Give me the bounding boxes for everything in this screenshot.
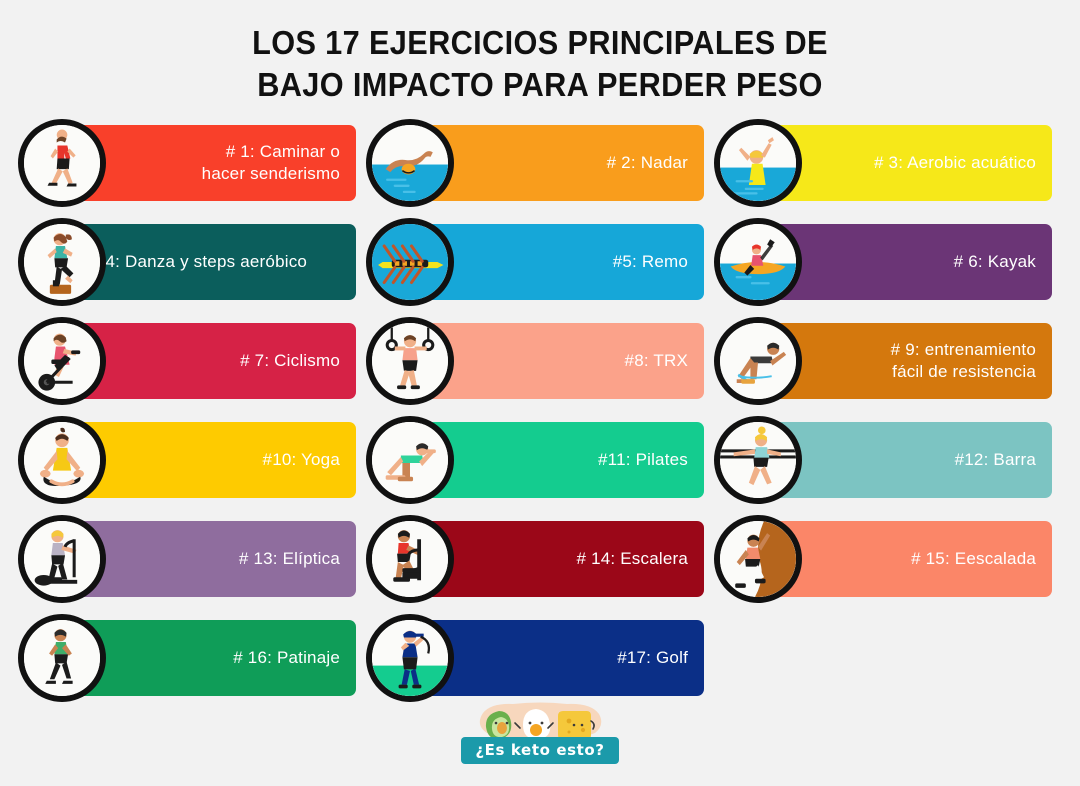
stationary-bike-icon — [18, 317, 106, 405]
exercise-label-11: #11: Pilates — [598, 449, 688, 471]
swimmer-icon — [366, 119, 454, 207]
walking-person-icon — [18, 119, 106, 207]
yoga-lotus-icon — [18, 416, 106, 504]
exercise-label-14: # 14: Escalera — [577, 548, 688, 570]
exercise-label-1: # 1: Caminar o hacer senderismo — [202, 141, 340, 185]
resistance-band-icon — [714, 317, 802, 405]
exercise-label-7: # 7: Ciclismo — [240, 350, 340, 372]
exercise-label-5: #5: Remo — [613, 251, 688, 273]
exercise-grid: # 1: Caminar o hacer senderismo # 2: Nad… — [18, 114, 1062, 708]
exercise-label-10: #10: Yoga — [263, 449, 340, 471]
exercise-cell: #5: Remo — [366, 213, 714, 312]
trx-straps-icon — [366, 317, 454, 405]
exercise-cell: # 3: Aerobic acuático — [714, 114, 1062, 213]
rowing-boat-icon — [366, 218, 454, 306]
exercise-label-12: #12: Barra — [955, 449, 1036, 471]
exercise-label-2: # 2: Nadar — [607, 152, 688, 174]
exercise-cell: # 1: Caminar o hacer senderismo — [18, 114, 366, 213]
rock-climbing-icon — [714, 515, 802, 603]
exercise-label-15: # 15: Eescalada — [911, 548, 1036, 570]
exercise-label-3: # 3: Aerobic acuático — [874, 152, 1036, 174]
exercise-label-16: # 16: Patinaje — [233, 647, 340, 669]
kayak-icon — [714, 218, 802, 306]
page-title-line-2: BAJO IMPACTO PARA PERDER PESO — [38, 64, 1042, 106]
step-dance-icon — [18, 218, 106, 306]
exercise-cell: # 13: Elíptica — [18, 510, 366, 609]
exercise-label-6: # 6: Kayak — [954, 251, 1036, 273]
logo-text: ¿Es keto esto? — [461, 737, 618, 764]
exercise-cell: # 2: Nadar — [366, 114, 714, 213]
brand-logo: ¿Es keto esto? — [0, 699, 1080, 764]
exercise-cell: #11: Pilates — [366, 411, 714, 510]
exercise-cell: #12: Barra — [714, 411, 1062, 510]
exercise-cell: # 7: Ciclismo — [18, 312, 366, 411]
elliptical-machine-icon — [18, 515, 106, 603]
exercise-cell: #10: Yoga — [18, 411, 366, 510]
page-title-line-1: LOS 17 EJERCICIOS PRINCIPALES DE — [38, 22, 1042, 64]
page-title: LOS 17 EJERCICIOS PRINCIPALES DE BAJO IM… — [0, 0, 1080, 106]
exercise-cell: # 16: Patinaje — [18, 609, 366, 708]
exercise-label-17: #17: Golf — [617, 647, 688, 669]
stair-climber-icon — [366, 515, 454, 603]
pilates-icon — [366, 416, 454, 504]
exercise-label-8: #8: TRX — [625, 350, 688, 372]
exercise-cell: #8: TRX — [366, 312, 714, 411]
exercise-label-13: # 13: Elíptica — [239, 548, 340, 570]
exercise-cell: # 9: entrenamiento fácil de resistencia — [714, 312, 1062, 411]
water-aerobics-icon — [714, 119, 802, 207]
exercise-cell: # 4: Danza y steps aeróbico — [18, 213, 366, 312]
skating-icon — [18, 614, 106, 702]
exercise-cell: #17: Golf — [366, 609, 714, 708]
exercise-cell: # 15: Eescalada — [714, 510, 1062, 609]
exercise-cell: # 14: Escalera — [366, 510, 714, 609]
ballet-barre-icon — [714, 416, 802, 504]
golf-swing-icon — [366, 614, 454, 702]
exercise-label-9: # 9: entrenamiento fácil de resistencia — [891, 339, 1036, 383]
exercise-cell: # 6: Kayak — [714, 213, 1062, 312]
